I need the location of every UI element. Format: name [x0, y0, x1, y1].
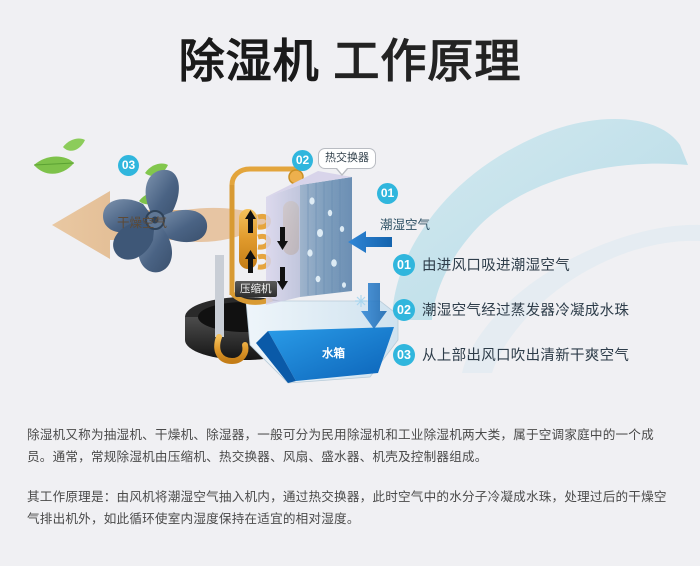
compressor-label: 压缩机 [235, 281, 277, 297]
page-title-bold: 除湿机 [179, 35, 320, 87]
page-title: 除湿机 工作原理 [0, 32, 700, 90]
support-tube [215, 255, 224, 337]
page-title-rest: 工作原理 [320, 35, 522, 87]
diagram-badge-03: 03 [118, 155, 139, 176]
diagram-badge-02: 02 [292, 150, 313, 171]
legend-list: 01 由进风口吸进潮湿空气 02 潮湿空气经过蒸发器冷凝成水珠 03 从上部出风… [393, 253, 693, 388]
legend-badge-02: 02 [393, 299, 415, 321]
legend-text-03: 从上部出风口吹出清新干爽空气 [422, 344, 629, 365]
legend-item-01: 01 由进风口吸进潮湿空气 [393, 253, 693, 276]
diagram-badge-01: 01 [377, 183, 398, 204]
heat-exchanger-callout: 热交换器 [318, 148, 376, 169]
evaporator-icon [266, 171, 352, 305]
legend-badge-01: 01 [393, 254, 415, 276]
legend-text-01: 由进风口吸进潮湿空气 [422, 254, 570, 275]
description-paragraph-1: 除湿机又称为抽湿机、干燥机、除湿器，一般可分为民用除湿机和工业除湿机两大类，属于… [27, 424, 677, 468]
description-paragraph-2: 其工作原理是：由风机将潮湿空气抽入机内，通过热交换器，此时空气中的水分子冷凝成水… [27, 486, 677, 530]
description-block: 除湿机又称为抽湿机、干燥机、除湿器，一般可分为民用除湿机和工业除湿机两大类，属于… [27, 424, 677, 530]
legend-item-03: 03 从上部出风口吹出清新干爽空气 [393, 343, 693, 366]
page-root: 除湿机 工作原理 [0, 0, 700, 566]
legend-badge-03: 03 [393, 344, 415, 366]
humid-air-label: 潮湿空气 [380, 214, 430, 233]
intake-arrow-icon [348, 231, 392, 253]
dry-air-label: 干燥空气 [117, 212, 167, 231]
legend-text-02: 潮湿空气经过蒸发器冷凝成水珠 [422, 299, 629, 320]
water-tank-label: 水箱 [322, 345, 345, 361]
leaf-icon-2 [63, 138, 85, 150]
legend-item-02: 02 潮湿空气经过蒸发器冷凝成水珠 [393, 298, 693, 321]
